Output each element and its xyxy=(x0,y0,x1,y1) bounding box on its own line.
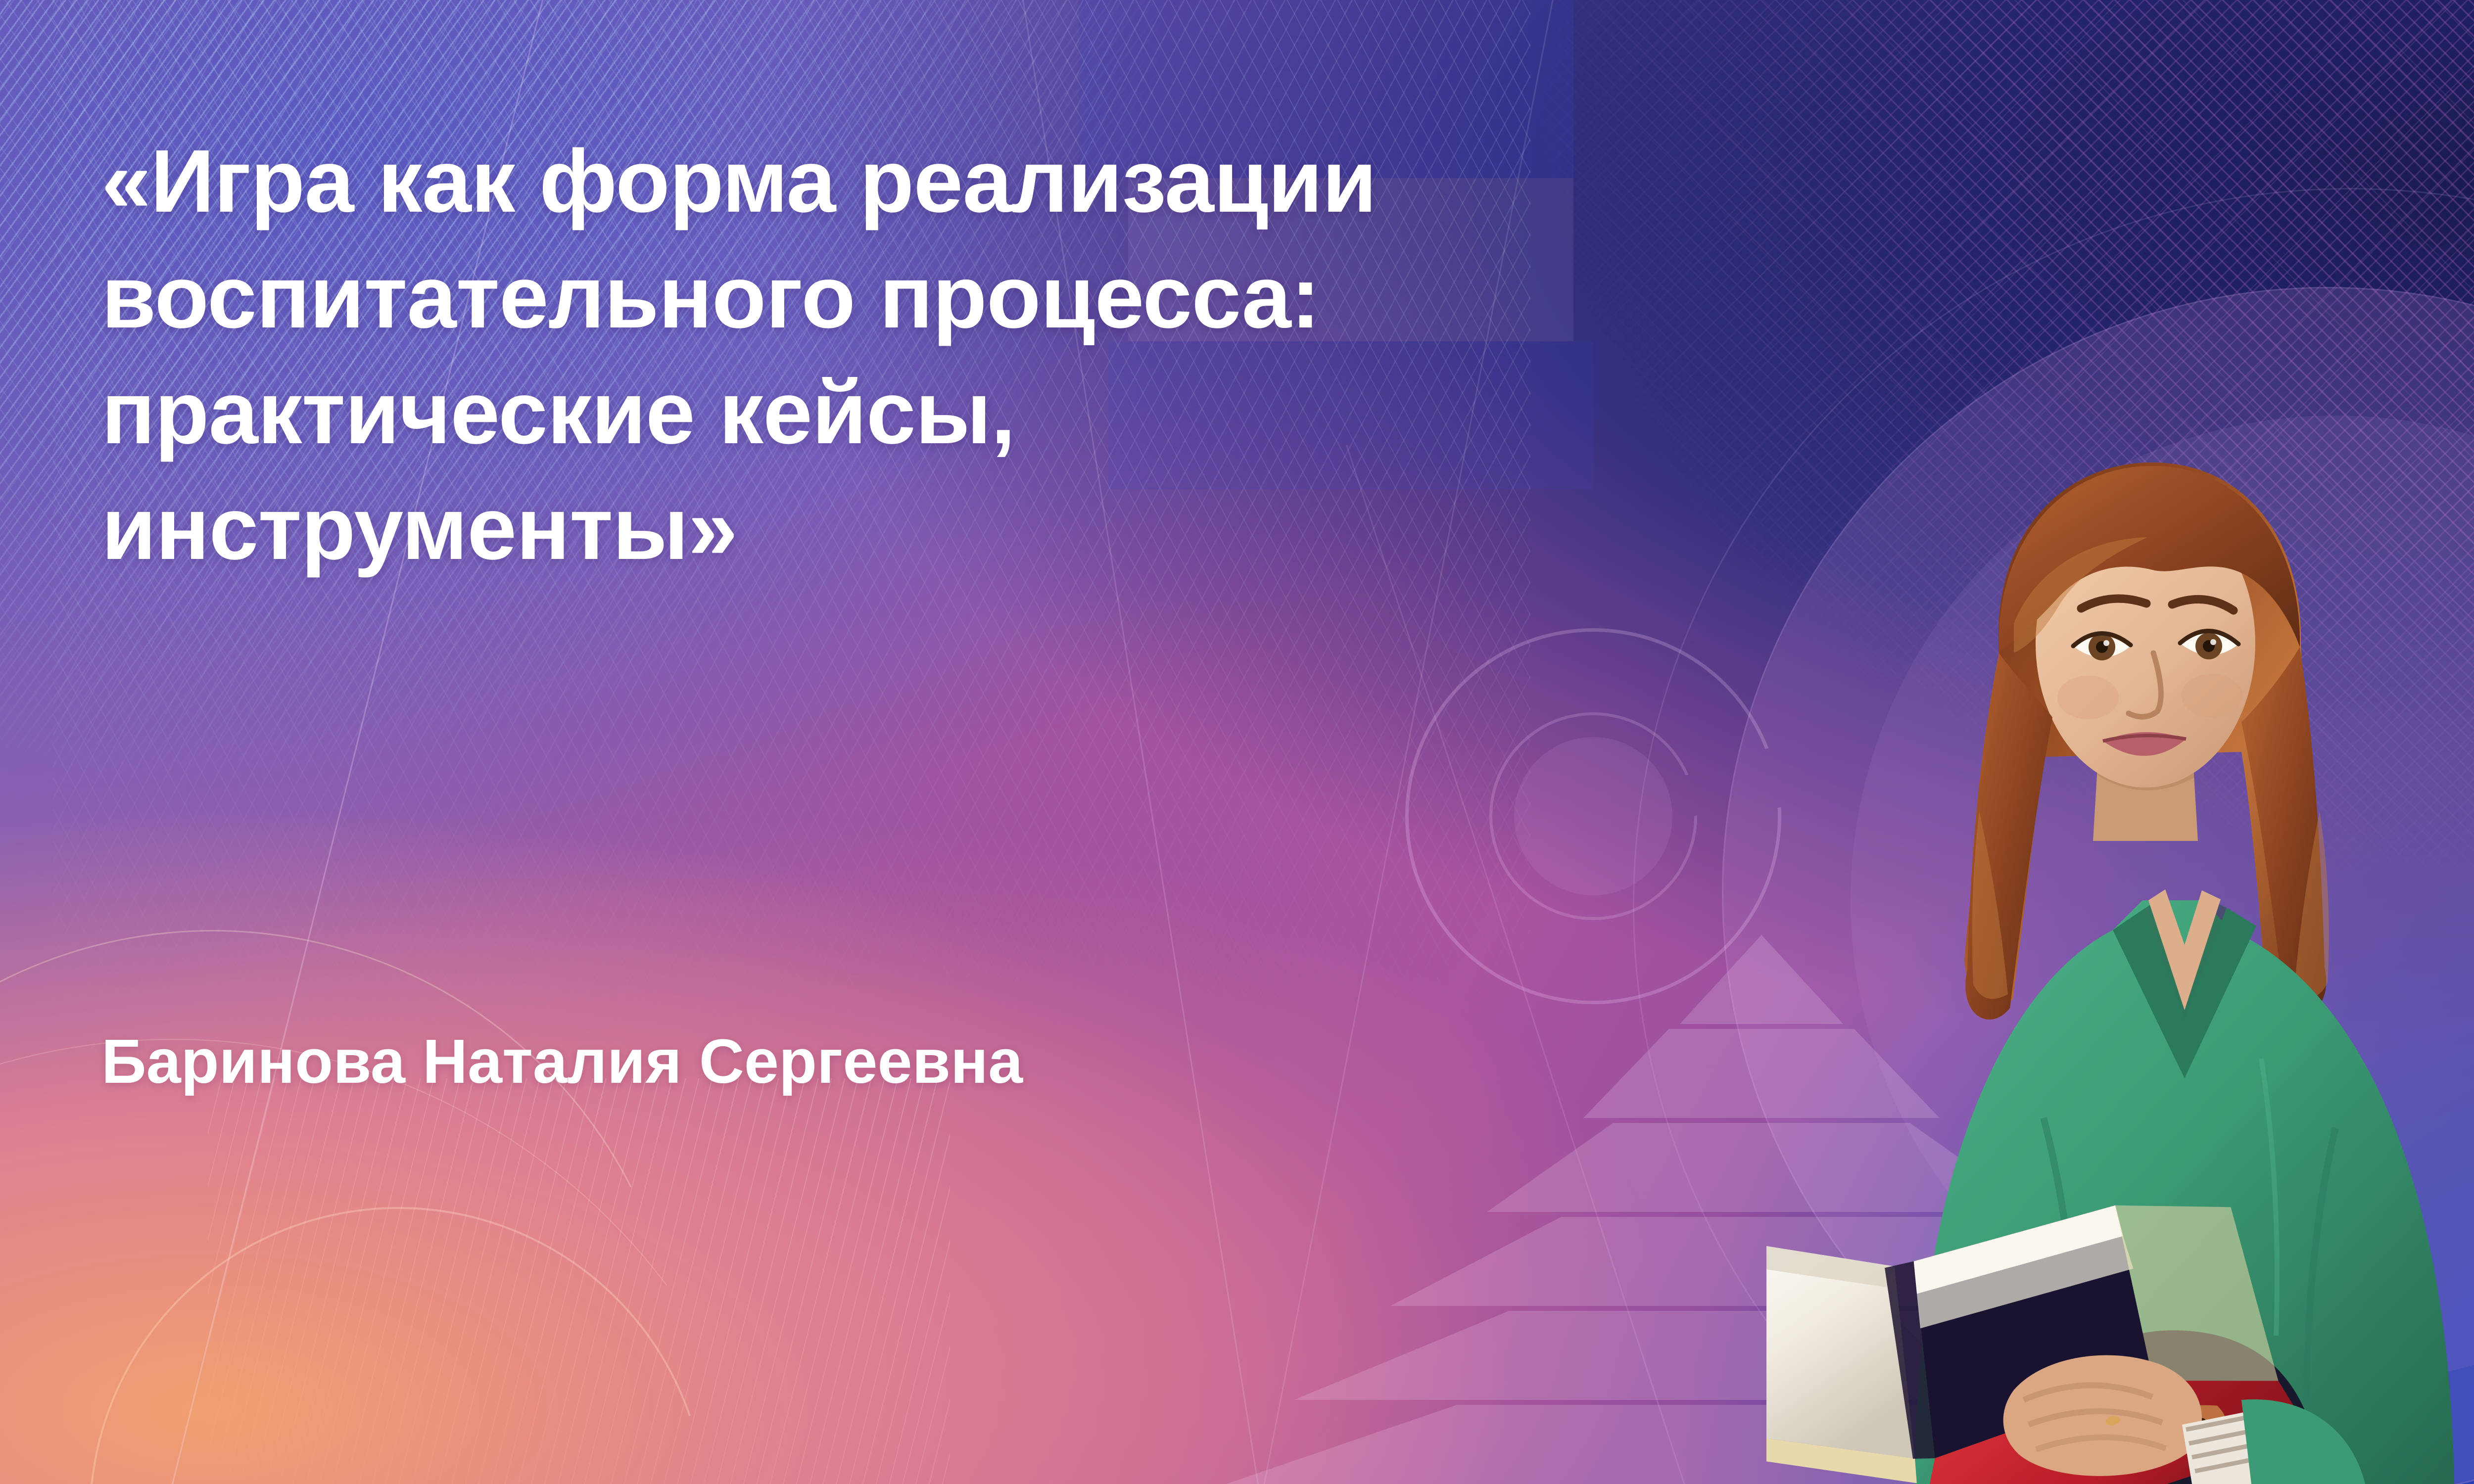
presentation-slide: «Игра как форма реализации воспитательно… xyxy=(0,0,2474,1484)
decor-stripes-bottom-left xyxy=(208,1078,950,1484)
speaker-name: Баринова Наталия Сергеевна xyxy=(101,1024,1023,1099)
title-block: «Игра как форма реализации воспитательно… xyxy=(101,124,2056,587)
crescent-core-dot xyxy=(1514,737,1672,895)
page-title: «Игра как форма реализации воспитательно… xyxy=(101,124,2056,587)
